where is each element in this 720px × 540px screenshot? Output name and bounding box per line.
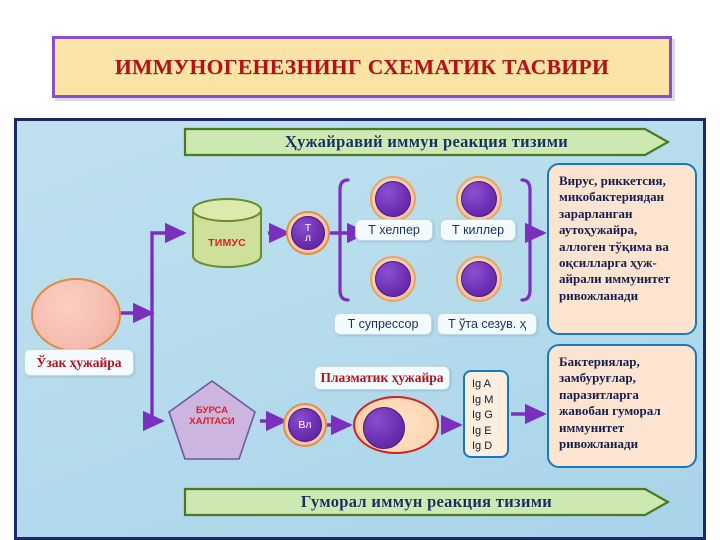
t-helper-cell [370,176,416,222]
bursa-label: БУРСА ХАЛТАСИ [166,406,258,428]
slide-canvas: ИММУНОГЕНЕЗНИНГ СХЕМАТИК ТАСВИРИ [0,0,720,540]
b-lymphocyte-label: Вл [298,420,311,431]
t-lymphocyte-label-2: л [305,233,311,244]
stem-cell-shape [31,278,121,352]
banner-cellular-label: Ҳужайравий иммун реакция тизими [183,127,670,157]
ig-e-item: Ig E [472,424,507,440]
t-hypersensitive-nucleus [461,261,497,297]
ig-m-item: Ig M [472,393,507,409]
banner-humoral-immunity: Гуморал иммун реакция тизими [183,487,670,517]
plasma-cell-label: Плазматик ҳужайра [314,366,450,390]
b-lymphocyte-nucleus: Вл [288,408,322,442]
banner-cellular-immunity: Ҳужайравий иммун реакция тизими [183,127,670,157]
slide-title-box: ИММУНОГЕНЕЗНИНГ СХЕМАТИК ТАСВИРИ [52,36,672,98]
thymus-organ: ТИМУС [188,197,266,269]
banner-humoral-label: Гуморал иммун реакция тизими [183,487,670,517]
stem-cell-nucleus [33,280,78,324]
ig-a-item: Ig A [472,377,507,393]
thymus-label: ТИМУС [188,237,266,249]
t-suppressor-label: Т супрессор [334,313,432,335]
bursa-organ: БУРСА ХАЛТАСИ [166,378,258,462]
t-suppressor-nucleus [375,261,411,297]
t-lymphocyte-nucleus: Т л [291,216,325,250]
cellular-immunity-infobox: Вирус, риккетсия, микобактериядан зарарл… [547,163,697,335]
t-suppressor-cell [370,256,416,302]
bursa-label-line1: БУРСА [196,405,228,416]
page-title: ИММУНОГЕНЕЗНИНГ СХЕМАТИК ТАСВИРИ [115,55,609,80]
t-lymphocyte-cell: Т л [286,211,330,255]
t-killer-label: Т киллер [440,219,516,241]
t-killer-nucleus [461,181,497,217]
t-hypersensitive-label: Т ўта сезув. ҳ [437,313,537,335]
cellular-immunity-text: Вирус, риккетсия, микобактериядан зарарл… [559,173,687,304]
t-killer-cell [456,176,502,222]
b-lymphocyte-cell: Вл [283,403,327,447]
t-helper-label: Т хелпер [355,219,433,241]
humoral-immunity-text: Бактериялар, замбуруғлар, паразитларга ж… [559,354,687,452]
ig-g-item: Ig G [472,408,507,424]
humoral-immunity-infobox: Бактериялар, замбуруғлар, паразитларга ж… [547,344,697,468]
bursa-label-line2: ХАЛТАСИ [189,416,235,427]
t-helper-nucleus [375,181,411,217]
t-hypersensitive-cell [456,256,502,302]
plasma-cell-nucleus [363,407,405,449]
plasma-cell-shape [353,396,439,454]
stem-cell-label: Ўзак ҳужайра [24,349,134,376]
ig-d-item: Ig D [472,439,507,455]
immunoglobulin-list: Ig A Ig M Ig G Ig E Ig D [463,370,509,458]
